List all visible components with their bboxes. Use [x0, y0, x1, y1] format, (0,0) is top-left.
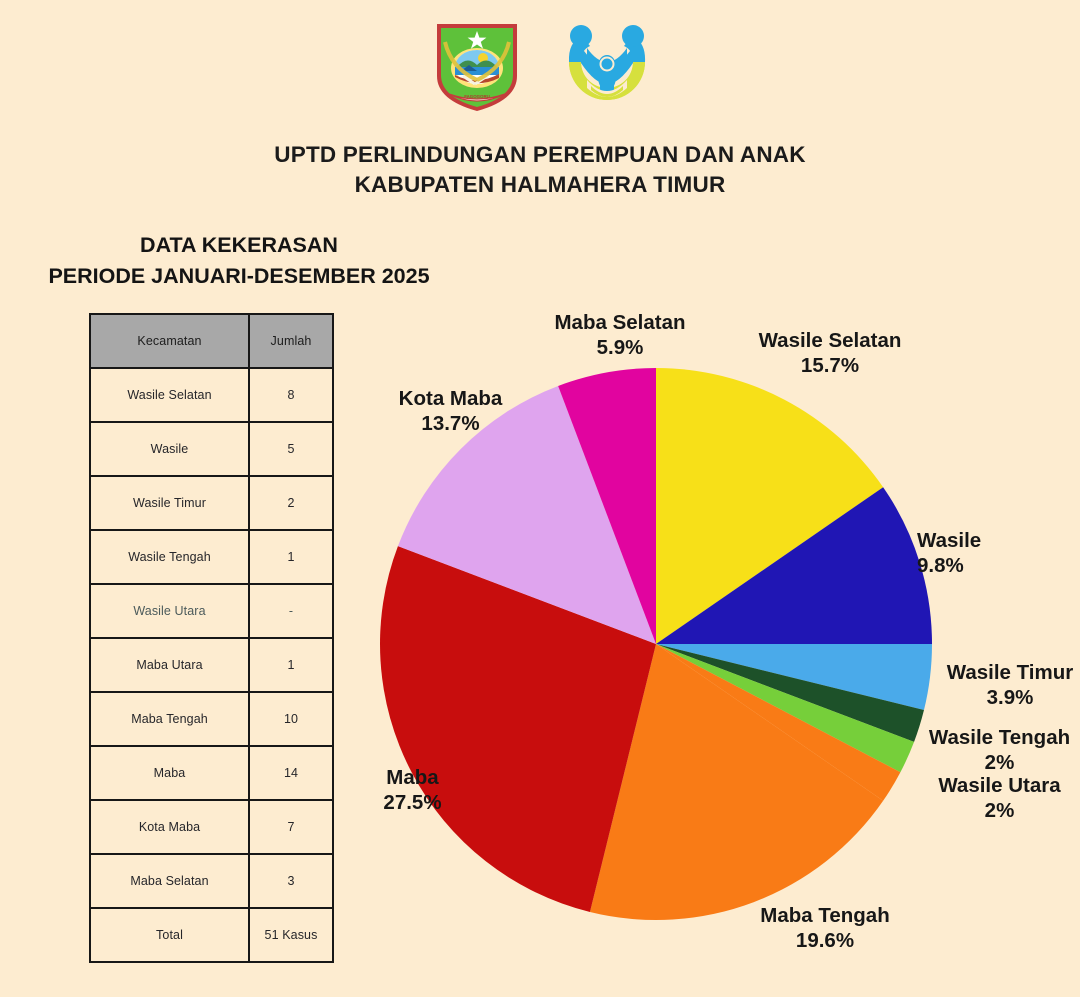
- pie-label-name: Wasile Utara: [907, 773, 1080, 798]
- cell-jumlah: 51 Kasus: [249, 908, 333, 962]
- report-title-line1: DATA KEKERASAN: [34, 230, 444, 261]
- table-row: Kota Maba7: [90, 800, 333, 854]
- pie-label-maba-tengah: Maba Tengah 19.6%: [730, 903, 920, 953]
- table-header-row: Kecamatan Jumlah: [90, 314, 333, 368]
- column-header-jumlah: Jumlah: [249, 314, 333, 368]
- cell-kecamatan: Kota Maba: [90, 800, 249, 854]
- org-title-line2: KABUPATEN HALMAHERA TIMUR: [0, 170, 1080, 200]
- pie-label-percent: 13.7%: [363, 411, 538, 436]
- table-row: Maba Tengah10: [90, 692, 333, 746]
- pie-label-percent: 3.9%: [930, 685, 1080, 710]
- pie-label-wasile-timur: Wasile Timur 3.9%: [930, 660, 1080, 710]
- svg-text:FAGOGORU: FAGOGORU: [464, 94, 490, 99]
- table-row: Total51 Kasus: [90, 908, 333, 962]
- page-title: UPTD PERLINDUNGAN PEREMPUAN DAN ANAK KAB…: [0, 140, 1080, 200]
- cell-jumlah: 5: [249, 422, 333, 476]
- pie-label-kota-maba: Kota Maba 13.7%: [363, 386, 538, 436]
- cell-kecamatan: Wasile Utara: [90, 584, 249, 638]
- pie-label-wasile-utara: Wasile Utara 2%: [907, 773, 1080, 823]
- pie-label-name: Wasile: [917, 528, 1067, 553]
- cell-jumlah: -: [249, 584, 333, 638]
- pie-label-maba: Maba 27.5%: [340, 765, 485, 815]
- pie-chart: Maba Selatan 5.9% Wasile Selatan 15.7% K…: [355, 300, 1080, 997]
- cell-kecamatan: Maba Tengah: [90, 692, 249, 746]
- cell-jumlah: 1: [249, 638, 333, 692]
- pie-label-wasile-selatan: Wasile Selatan 15.7%: [735, 328, 925, 378]
- cell-jumlah: 10: [249, 692, 333, 746]
- halmahera-timur-regency-emblem-logo-icon: FAGOGORU: [431, 18, 523, 114]
- org-title-line1: UPTD PERLINDUNGAN PEREMPUAN DAN ANAK: [0, 140, 1080, 170]
- report-title: DATA KEKERASAN PERIODE JANUARI-DESEMBER …: [34, 230, 444, 292]
- pie-label-wasile-tengah: Wasile Tengah 2%: [907, 725, 1080, 775]
- table-row: Wasile Utara-: [90, 584, 333, 638]
- kekerasan-data-table: Kecamatan Jumlah Wasile Selatan8Wasile5W…: [89, 313, 334, 963]
- cell-jumlah: 8: [249, 368, 333, 422]
- cell-kecamatan: Total: [90, 908, 249, 962]
- table-row: Wasile5: [90, 422, 333, 476]
- cell-jumlah: 2: [249, 476, 333, 530]
- pie-label-percent: 5.9%: [530, 335, 710, 360]
- cell-jumlah: 1: [249, 530, 333, 584]
- cell-kecamatan: Wasile Tengah: [90, 530, 249, 584]
- pie-label-percent: 2%: [907, 798, 1080, 823]
- column-header-kecamatan: Kecamatan: [90, 314, 249, 368]
- cell-jumlah: 3: [249, 854, 333, 908]
- pie-label-name: Wasile Tengah: [907, 725, 1080, 750]
- cell-jumlah: 14: [249, 746, 333, 800]
- table-row: Wasile Timur2: [90, 476, 333, 530]
- pie-label-percent: 2%: [907, 750, 1080, 775]
- pie-label-name: Wasile Selatan: [735, 328, 925, 353]
- cell-kecamatan: Maba Selatan: [90, 854, 249, 908]
- pie-label-percent: 9.8%: [917, 553, 1067, 578]
- pie-label-name: Maba Tengah: [730, 903, 920, 928]
- perlindungan-perempuan-dan-anak-logo-icon: [557, 18, 649, 114]
- cell-kecamatan: Wasile Selatan: [90, 368, 249, 422]
- logo-row: FAGOGORU: [0, 16, 1080, 116]
- pie-label-percent: 15.7%: [735, 353, 925, 378]
- table-row: Maba Utara1: [90, 638, 333, 692]
- cell-kecamatan: Maba: [90, 746, 249, 800]
- pie-label-name: Kota Maba: [363, 386, 538, 411]
- pie-label-percent: 27.5%: [340, 790, 485, 815]
- pie-label-name: Maba: [340, 765, 485, 790]
- table-row: Maba14: [90, 746, 333, 800]
- pie-label-wasile: Wasile 9.8%: [917, 528, 1067, 578]
- table-row: Wasile Selatan8: [90, 368, 333, 422]
- table-row: Maba Selatan3: [90, 854, 333, 908]
- pie-label-name: Maba Selatan: [530, 310, 710, 335]
- cell-kecamatan: Wasile Timur: [90, 476, 249, 530]
- table-row: Wasile Tengah1: [90, 530, 333, 584]
- pie-label-percent: 19.6%: [730, 928, 920, 953]
- cell-jumlah: 7: [249, 800, 333, 854]
- pie-label-name: Wasile Timur: [930, 660, 1080, 685]
- report-title-line2: PERIODE JANUARI-DESEMBER 2025: [34, 261, 444, 292]
- cell-kecamatan: Wasile: [90, 422, 249, 476]
- cell-kecamatan: Maba Utara: [90, 638, 249, 692]
- pie-label-maba-selatan: Maba Selatan 5.9%: [530, 310, 710, 360]
